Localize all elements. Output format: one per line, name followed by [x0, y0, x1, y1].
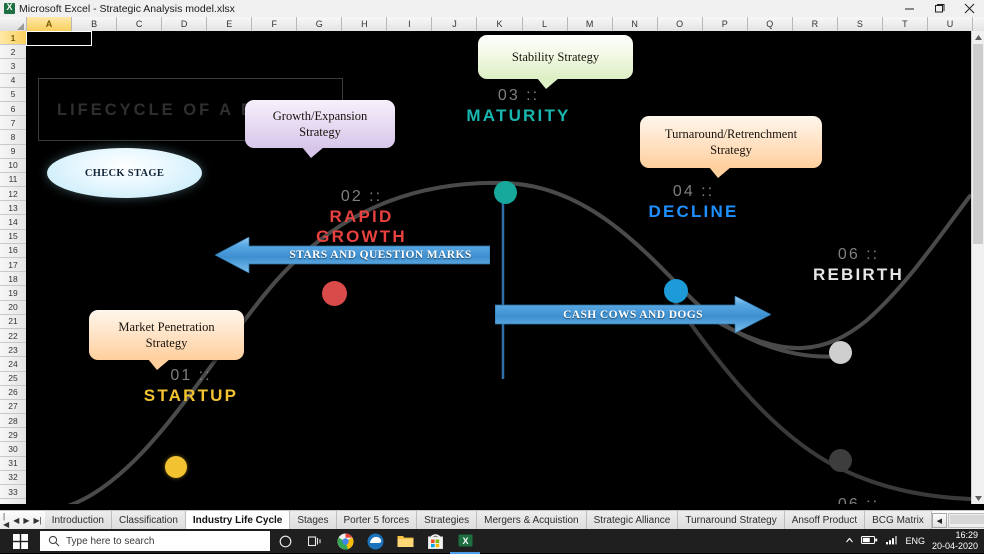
- row-header-27[interactable]: 27: [0, 400, 26, 414]
- stage-decline-name: DECLINE: [606, 202, 781, 222]
- stage-rebirth-lower: 06 ::: [771, 496, 946, 504]
- row-header-1[interactable]: 1: [0, 31, 26, 45]
- row-header-11[interactable]: 11: [0, 173, 26, 187]
- row-header-28[interactable]: 28: [0, 414, 26, 428]
- sheet-tab-introduction[interactable]: Introduction: [45, 511, 112, 530]
- file-explorer-icon[interactable]: [390, 529, 420, 553]
- restore-button[interactable]: [924, 0, 954, 17]
- stage-maturity: 03 :: MATURITY: [431, 87, 606, 126]
- row-header-7[interactable]: 7: [0, 116, 26, 130]
- row-header-20[interactable]: 20: [0, 301, 26, 315]
- sheet-tab-stages[interactable]: Stages: [290, 511, 336, 530]
- column-headers: ABCDEFGHIJKLMNOPQRSTU: [0, 17, 984, 32]
- row-header-32[interactable]: 32: [0, 471, 26, 485]
- maturity-marker: [494, 181, 517, 204]
- column-header-h[interactable]: H: [342, 17, 387, 31]
- column-header-d[interactable]: D: [162, 17, 207, 31]
- wifi-icon[interactable]: [885, 535, 898, 547]
- row-header-33[interactable]: 33: [0, 485, 26, 499]
- column-header-r[interactable]: R: [793, 17, 838, 31]
- rebirth-marker: [829, 341, 852, 364]
- tab-scroll-controls[interactable]: ◀ ▶: [932, 511, 984, 530]
- close-button[interactable]: [954, 0, 984, 17]
- row-header-12[interactable]: 12: [0, 187, 26, 201]
- window-title: Microsoft Excel - Strategic Analysis mod…: [19, 3, 235, 15]
- sheet-tab-bcg-matrix[interactable]: BCG Matrix: [865, 511, 932, 530]
- windows-start-icon[interactable]: [0, 529, 40, 553]
- svg-text:X: X: [462, 536, 468, 546]
- first-sheet-icon[interactable]: |◀: [3, 513, 9, 529]
- sheet-tabs: IntroductionClassificationIndustry Life …: [45, 511, 932, 530]
- stage-maturity-number: 03 ::: [431, 87, 606, 105]
- title-bar: Microsoft Excel - Strategic Analysis mod…: [0, 0, 984, 18]
- row-header-6[interactable]: 6: [0, 102, 26, 116]
- stage-rebirth-name: REBIRTH: [771, 265, 946, 285]
- callout-turnaround-retrenchment[interactable]: Turnaround/Retrenchment Strategy: [640, 116, 822, 168]
- column-header-c[interactable]: C: [117, 17, 162, 31]
- row-header-3[interactable]: 3: [0, 59, 26, 73]
- row-header-19[interactable]: 19: [0, 286, 26, 300]
- tab-scroll-thumb[interactable]: [950, 515, 984, 524]
- callout-stability-text: Stability Strategy: [504, 49, 607, 65]
- clock[interactable]: 16:29 20-04-2020: [932, 530, 978, 552]
- callout-growth-expansion[interactable]: Growth/Expansion Strategy: [245, 100, 395, 148]
- battery-icon[interactable]: [861, 535, 878, 547]
- vertical-scroll-thumb[interactable]: [973, 44, 983, 244]
- column-header-k[interactable]: K: [477, 17, 522, 31]
- stage-rebirth-number: 06 ::: [771, 246, 946, 264]
- row-header-15[interactable]: 15: [0, 230, 26, 244]
- column-header-u[interactable]: U: [928, 17, 973, 31]
- stage-decline: 04 :: DECLINE: [606, 183, 781, 222]
- show-hidden-icons[interactable]: [845, 536, 854, 547]
- edge-icon[interactable]: [360, 529, 390, 553]
- stage-maturity-name: MATURITY: [431, 106, 606, 126]
- stage-rapid-growth-name: RAPID: [284, 207, 439, 227]
- callout-turnaround-retrenchment-text: Turnaround/Retrenchment Strategy: [657, 126, 805, 158]
- row-header-10[interactable]: 10: [0, 159, 26, 173]
- column-header-e[interactable]: E: [207, 17, 252, 31]
- row-header-23[interactable]: 23: [0, 343, 26, 357]
- row-header-9[interactable]: 9: [0, 145, 26, 159]
- stage-rebirth: 06 :: REBIRTH: [771, 246, 946, 285]
- decay-marker: [829, 449, 852, 472]
- next-sheet-icon[interactable]: ▶: [23, 517, 29, 525]
- language-indicator[interactable]: ENG: [905, 536, 925, 546]
- minimize-button[interactable]: [894, 0, 924, 17]
- column-header-j[interactable]: J: [432, 17, 477, 31]
- column-header-n[interactable]: N: [613, 17, 658, 31]
- column-header-b[interactable]: B: [72, 17, 117, 31]
- prev-sheet-icon[interactable]: ◀: [13, 517, 19, 525]
- clock-time: 16:29: [955, 530, 978, 541]
- stage-rebirth-lower-number: 06 ::: [771, 496, 946, 504]
- row-header-30[interactable]: 30: [0, 442, 26, 456]
- sheet-tab-turnaround-strategy[interactable]: Turnaround Strategy: [678, 511, 784, 530]
- sheet-tab-industry-life-cycle[interactable]: Industry Life Cycle: [186, 511, 290, 530]
- column-header-q[interactable]: Q: [748, 17, 793, 31]
- clock-date: 20-04-2020: [932, 541, 978, 552]
- column-header-l[interactable]: L: [523, 17, 568, 31]
- excel-window: Microsoft Excel - Strategic Analysis mod…: [0, 0, 984, 553]
- column-header-i[interactable]: I: [387, 17, 432, 31]
- search-placeholder: Type here to search: [66, 536, 154, 547]
- row-header-31[interactable]: 31: [0, 457, 26, 471]
- callout-market-penetration[interactable]: Market Penetration Strategy: [89, 310, 244, 360]
- check-stage-label: CHECK STAGE: [85, 168, 164, 179]
- row-header-18[interactable]: 18: [0, 272, 26, 286]
- last-sheet-icon[interactable]: ▶|: [33, 517, 41, 525]
- row-header-16[interactable]: 16: [0, 244, 26, 258]
- row-header-14[interactable]: 14: [0, 215, 26, 229]
- chrome-icon[interactable]: [330, 529, 360, 553]
- column-header-a[interactable]: A: [27, 17, 72, 31]
- stage-startup: 01 :: STARTUP: [121, 367, 261, 406]
- stage-startup-name: STARTUP: [121, 386, 261, 406]
- callout-market-penetration-text: Market Penetration Strategy: [110, 319, 222, 351]
- window-controls: [894, 0, 984, 17]
- stage-decline-number: 04 ::: [606, 183, 781, 201]
- stage-startup-number: 01 ::: [121, 367, 261, 385]
- startup-marker: [165, 456, 187, 478]
- callout-stability[interactable]: Stability Strategy: [478, 35, 633, 79]
- callout-growth-expansion-text: Growth/Expansion Strategy: [265, 108, 375, 140]
- arrow-stars-and-question-marks[interactable]: STARS AND QUESTION MARKS: [215, 237, 490, 273]
- sheet-tab-classification[interactable]: Classification: [112, 511, 186, 530]
- vertical-scrollbar[interactable]: [971, 31, 984, 504]
- row-header-17[interactable]: 17: [0, 258, 26, 272]
- row-header-24[interactable]: 24: [0, 357, 26, 371]
- column-header-o[interactable]: O: [658, 17, 703, 31]
- sheet-tab-mergers-acquistion[interactable]: Mergers & Acquistion: [477, 511, 587, 530]
- column-header-g[interactable]: G: [297, 17, 342, 31]
- callout-tail-icon: [302, 147, 324, 158]
- growth-marker: [322, 281, 347, 306]
- sheet-tab-ansoff-product[interactable]: Ansoff Product: [785, 511, 865, 530]
- microsoft-store-icon[interactable]: [420, 529, 450, 553]
- tab-scroll-left-button[interactable]: ◀: [932, 513, 947, 528]
- sheet-tab-strategic-alliance[interactable]: Strategic Alliance: [587, 511, 679, 530]
- row-header-21[interactable]: 21: [0, 315, 26, 329]
- scroll-up-icon[interactable]: [972, 31, 984, 43]
- column-header-f[interactable]: F: [252, 17, 297, 31]
- sheet-tab-bar: |◀ ◀ ▶ ▶| IntroductionClassificationIndu…: [0, 510, 984, 530]
- column-header-t[interactable]: T: [883, 17, 928, 31]
- row-header-26[interactable]: 26: [0, 386, 26, 400]
- row-header-2[interactable]: 2: [0, 45, 26, 59]
- task-view-icon[interactable]: [300, 529, 330, 553]
- excel-icon: [4, 3, 15, 14]
- callout-tail-icon: [709, 167, 731, 178]
- column-header-m[interactable]: M: [568, 17, 613, 31]
- search-icon: [48, 535, 60, 547]
- row-header-25[interactable]: 25: [0, 372, 26, 386]
- arrow-cash-cows-and-dogs[interactable]: CASH COWS AND DOGS: [495, 296, 771, 333]
- windows-taskbar: Type here to search: [0, 529, 984, 553]
- system-tray: ENG 16:29 20-04-2020: [845, 530, 984, 552]
- tab-scroll-track[interactable]: [948, 513, 984, 528]
- sheet-tab-porter-5-forces[interactable]: Porter 5 forces: [337, 511, 418, 530]
- column-header-p[interactable]: P: [703, 17, 748, 31]
- search-input[interactable]: Type here to search: [40, 531, 270, 551]
- row-header-5[interactable]: 5: [0, 88, 26, 102]
- cortana-icon[interactable]: [270, 529, 300, 553]
- column-header-s[interactable]: S: [838, 17, 883, 31]
- excel-taskbar-icon[interactable]: X: [450, 528, 480, 554]
- sheet-nav-buttons[interactable]: |◀ ◀ ▶ ▶|: [0, 511, 45, 530]
- select-all-icon[interactable]: [0, 17, 27, 31]
- row-header-29[interactable]: 29: [0, 428, 26, 442]
- row-header-8[interactable]: 8: [0, 130, 26, 144]
- scroll-down-icon[interactable]: [972, 492, 984, 504]
- row-header-22[interactable]: 22: [0, 329, 26, 343]
- row-header-13[interactable]: 13: [0, 201, 26, 215]
- stage-rapid-growth-number: 02 ::: [284, 188, 439, 206]
- row-header-4[interactable]: 4: [0, 74, 26, 88]
- worksheet-canvas[interactable]: LIFECYCLE OF A BUSINESS CHECK STAGE Grow…: [26, 31, 972, 504]
- row-headers: 1234567891011121314151617181920212223242…: [0, 31, 27, 504]
- check-stage-badge[interactable]: CHECK STAGE: [47, 148, 202, 198]
